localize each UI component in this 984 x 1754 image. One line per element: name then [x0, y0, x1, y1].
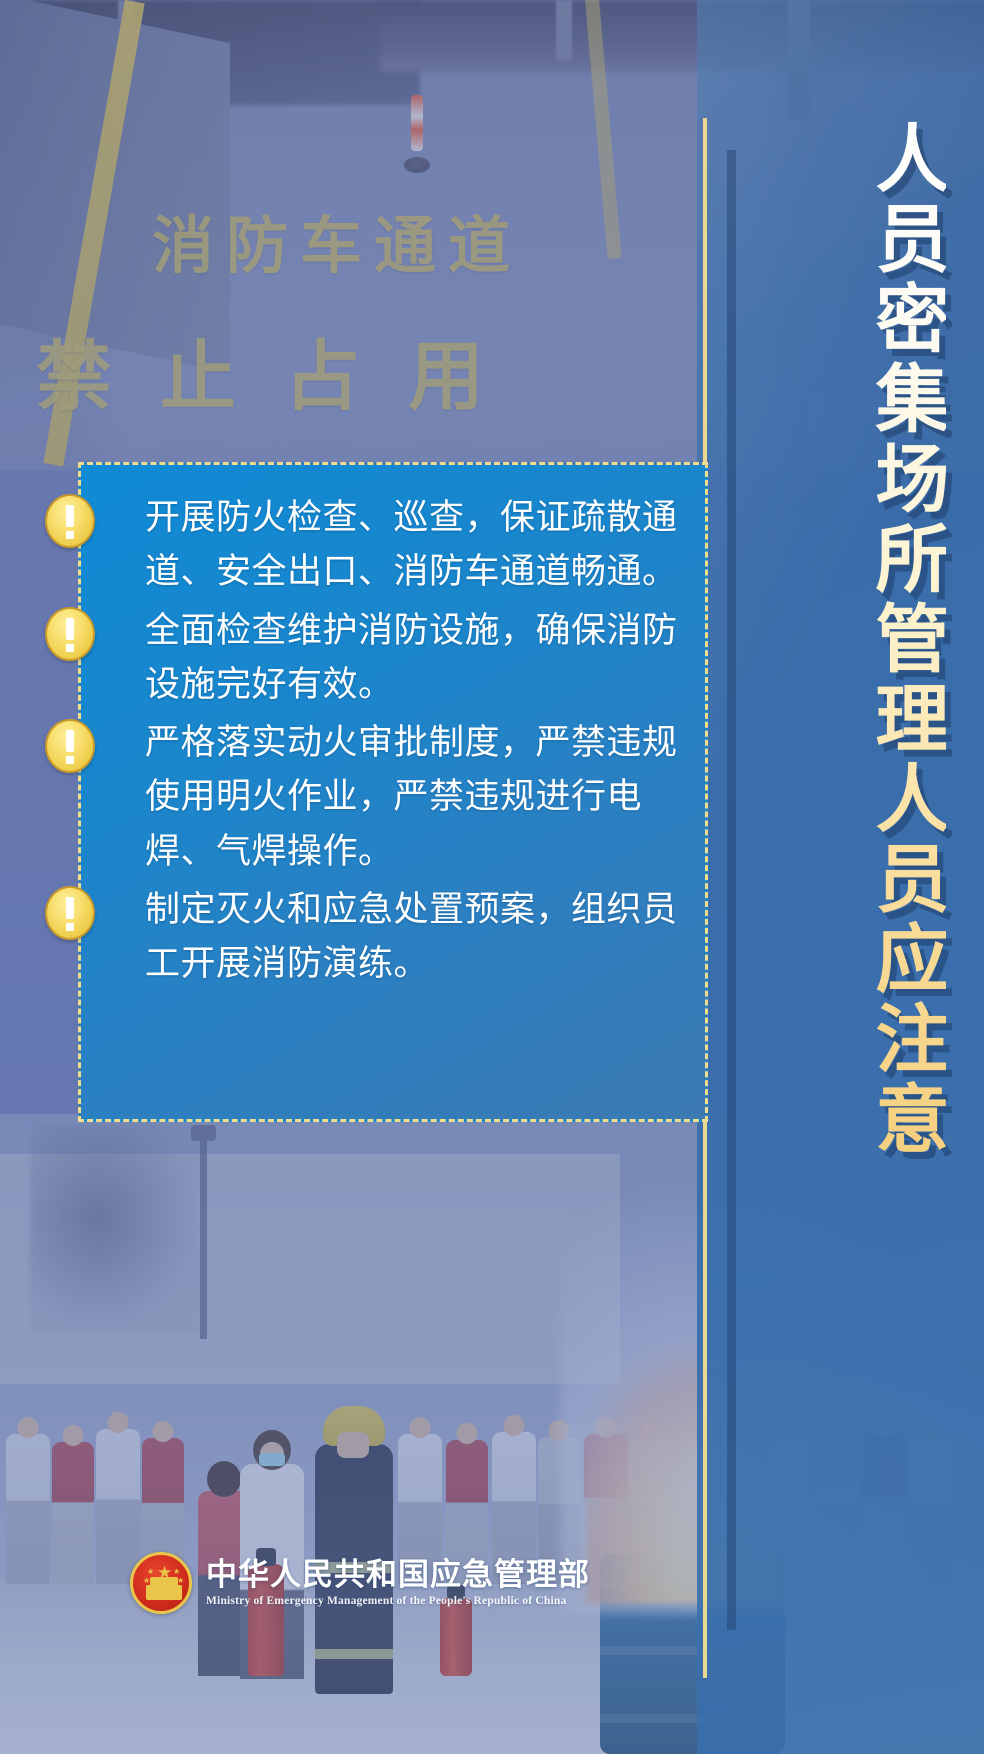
list-item: 开展防火检查、巡查，保证疏散通道、安全出口、消防车通道畅通。: [81, 491, 685, 600]
list-item-text: 制定灭火和应急处置预案，组织员工开展消防演练。: [145, 890, 678, 984]
national-emblem-icon: ★ ★★ ★★: [130, 1552, 192, 1614]
list-item-text: 严格落实动火审批制度，严禁违规使用明火作业，严禁违规进行电焊、气焊操作。: [145, 723, 678, 872]
list-item: 严格落实动火审批制度，严禁违规使用明火作业，严禁违规进行电焊、气焊操作。: [81, 716, 685, 879]
warning-exclamation-icon: [45, 494, 95, 548]
warning-exclamation-icon: [45, 886, 95, 940]
warning-exclamation-icon: [45, 719, 95, 773]
guidance-card: 开展防火检查、巡查，保证疏散通道、安全出口、消防车通道畅通。 全面检查维护消防设…: [78, 462, 708, 1122]
road-marking-line-2: 禁止占用: [36, 315, 532, 425]
warning-exclamation-icon: [45, 607, 95, 661]
poster-root: 消防车通道 禁止占用: [0, 0, 984, 1754]
traffic-cone-icon: [404, 95, 430, 173]
organization-name-en: Ministry of Emergency Management of the …: [206, 1595, 590, 1607]
page-title: 人员密集场所管理人员应注意: [836, 120, 946, 1160]
dark-divider-line: [727, 150, 736, 1630]
list-item: 全面检查维护消防设施，确保消防设施完好有效。: [81, 604, 685, 713]
tree-trunk-icon: [556, 0, 572, 60]
organization-name-cn: 中华人民共和国应急管理部: [206, 1559, 590, 1592]
road-marking-line-1: 消防车通道: [152, 195, 522, 285]
tree-icon: [30, 1124, 200, 1334]
footer-branding: ★ ★★ ★★ 中华人民共和国应急管理部 Ministry of Emergen…: [0, 1540, 720, 1626]
list-item: 制定灭火和应急处置预案，组织员工开展消防演练。: [81, 883, 685, 992]
list-item-text: 全面检查维护消防设施，确保消防设施完好有效。: [145, 611, 678, 705]
street-lamp-icon: [200, 1139, 207, 1339]
list-item-text: 开展防火检查、巡查，保证疏散通道、安全出口、消防车通道畅通。: [145, 498, 678, 592]
